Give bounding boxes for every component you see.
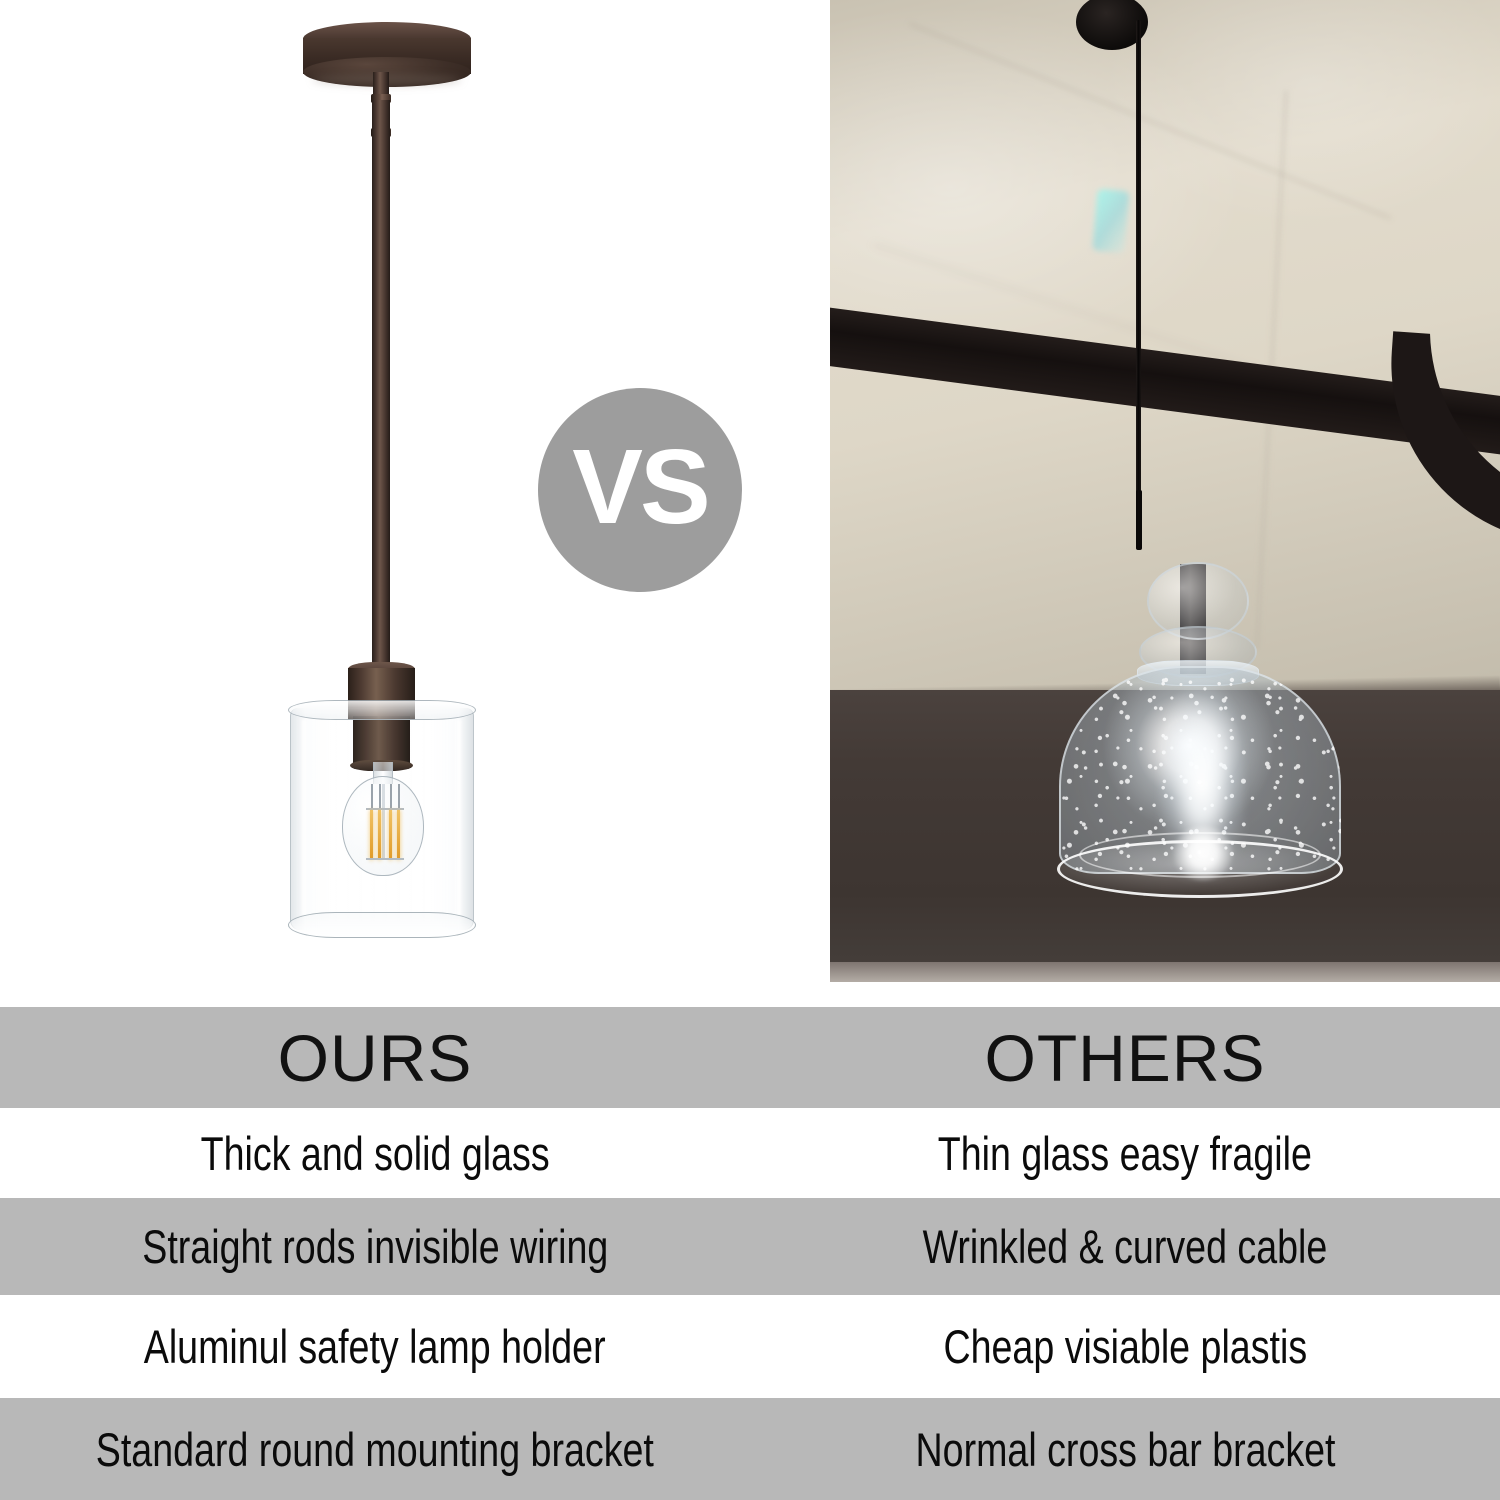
shade-highlight-right [452, 720, 461, 916]
table-cell-ours: Standard round mounting bracket [0, 1398, 750, 1500]
downrod-upper-segment [373, 72, 389, 96]
bulb-stem [382, 784, 385, 860]
competitor-ceiling-canopy [1075, 0, 1155, 56]
table-cell-others-text: Thin glass easy fragile [938, 1126, 1312, 1181]
black-hanging-cable [1136, 20, 1141, 530]
shade-highlight-left [302, 720, 309, 916]
bell-bottom-rim [1057, 840, 1343, 898]
shade-bottom-rim [288, 912, 476, 938]
table-row: Standard round mounting bracket Normal c… [0, 1398, 1500, 1500]
table-cell-ours: Aluminul safety lamp holder [0, 1295, 750, 1398]
table-row: Aluminul safety lamp holder Cheap visiab… [0, 1295, 1500, 1398]
column-header-others-label: OTHERS [984, 1020, 1265, 1096]
comparison-table: OURS OTHERS Thick and solid glass Thin g… [0, 1007, 1500, 1500]
table-row: Thick and solid glass Thin glass easy fr… [0, 1108, 1500, 1198]
filament-strip-3 [389, 810, 392, 860]
table-row: Straight rods invisible wiring Wrinkled … [0, 1198, 1500, 1295]
table-cell-ours: Straight rods invisible wiring [0, 1198, 750, 1295]
table-cell-others: Thin glass easy fragile [750, 1108, 1500, 1198]
shade-top-rim [288, 700, 476, 720]
table-header-row: OURS OTHERS [0, 1007, 1500, 1108]
table-cell-others-text: Cheap visiable plastis [943, 1319, 1307, 1374]
column-header-ours: OURS [0, 1007, 750, 1108]
table-cell-ours-text: Straight rods invisible wiring [142, 1219, 608, 1274]
table-cell-ours-text: Aluminul safety lamp holder [144, 1319, 606, 1374]
table-cell-others-text: Normal cross bar bracket [915, 1422, 1335, 1477]
vs-badge: VS [538, 388, 742, 592]
teal-light-reflection [1092, 189, 1129, 254]
downrod-main [372, 100, 390, 665]
filament-strip-1 [370, 810, 373, 860]
column-header-others: OTHERS [750, 1007, 1500, 1108]
table-cell-others: Normal cross bar bracket [750, 1398, 1500, 1500]
table-cell-others: Wrinkled & curved cable [750, 1198, 1500, 1295]
vs-badge-label: VS [572, 434, 707, 540]
table-cell-ours-text: Thick and solid glass [200, 1126, 549, 1181]
wall-base-trim [830, 962, 1500, 982]
filament-strip-4 [397, 810, 400, 860]
seeded-glass-bell-shade [1055, 540, 1345, 910]
filament-strip-2 [378, 810, 381, 860]
filament-bridge-bottom [366, 858, 404, 860]
table-cell-ours: Thick and solid glass [0, 1108, 750, 1198]
table-cell-others-text: Wrinkled & curved cable [923, 1219, 1328, 1274]
edison-led-filament-bulb [342, 762, 424, 894]
comparison-infographic: VS [0, 0, 1500, 1500]
table-cell-others: Cheap visiable plastis [750, 1295, 1500, 1398]
column-header-ours-label: OURS [278, 1020, 473, 1096]
top-comparison-area: VS [0, 0, 1500, 1007]
table-cell-ours-text: Standard round mounting bracket [96, 1422, 654, 1477]
